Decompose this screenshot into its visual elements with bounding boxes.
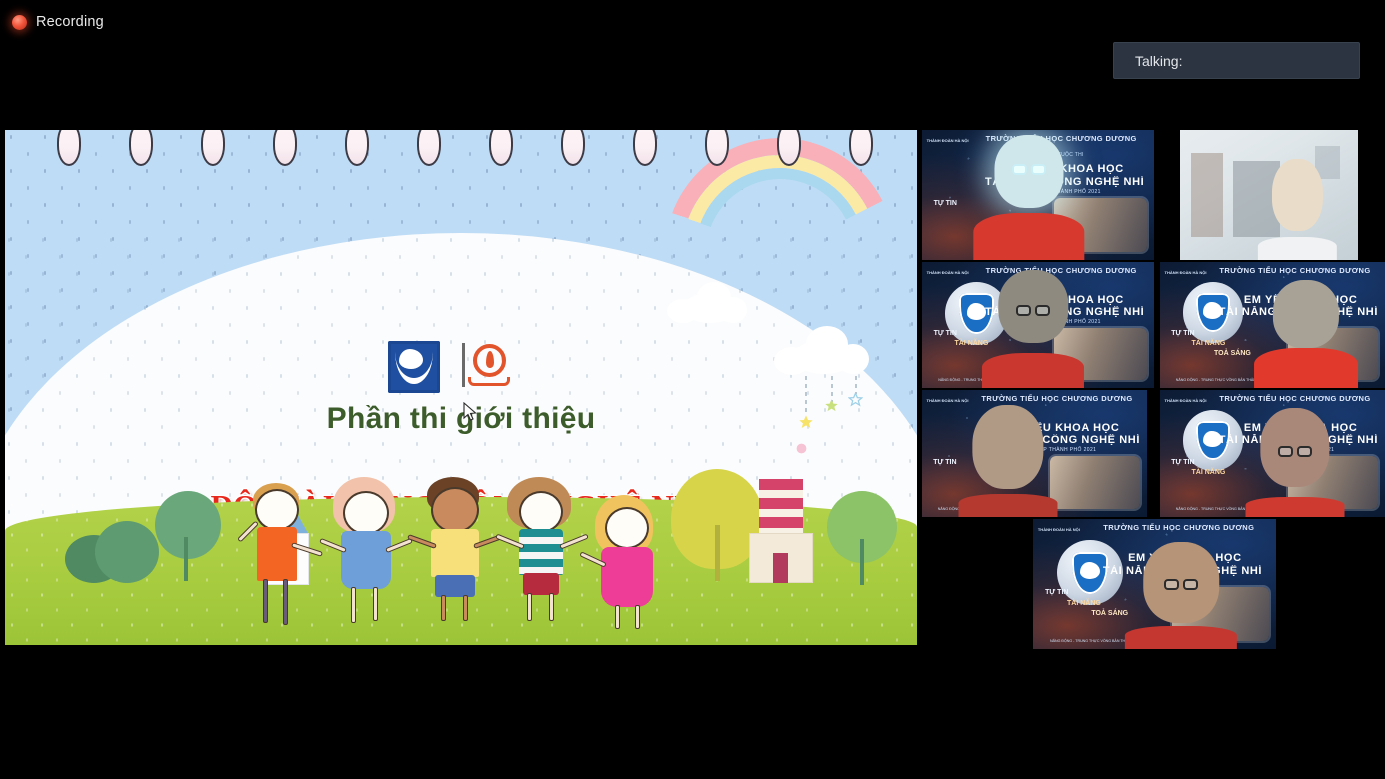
child-2-blue-dress (323, 477, 411, 629)
vbg-corner-badge: THÀNH ĐOÀN HÀ NỘI (927, 138, 969, 143)
talking-indicator-box: Talking: (1113, 42, 1360, 79)
child-3-yellow-shirt (413, 477, 497, 629)
vbg-motto2: TÀI NĂNG (1192, 340, 1226, 347)
video-tile-participant-2[interactable] (1180, 130, 1358, 260)
vbg-motto3: TOẢ SÁNG (1091, 610, 1128, 617)
vbg-motto1: TỰ TIN (1171, 459, 1194, 466)
vbg-motto1: TỰ TIN (1171, 330, 1194, 337)
recording-indicator: Recording (12, 11, 104, 33)
vbg-corner-badge: THÀNH ĐOÀN HÀ NỘI (1165, 270, 1207, 275)
house-striped-right (747, 479, 817, 589)
participant-5-video (958, 390, 1057, 517)
video-tile-participant-4[interactable]: THÀNH ĐOÀN HÀ NỘI TRƯỜNG TIỂU HỌC CHƯƠNG… (1160, 262, 1385, 388)
participant-3-video (982, 262, 1084, 388)
participant-6-video (1246, 390, 1345, 517)
vbg-corner-badge: THÀNH ĐOÀN HÀ NỘI (1165, 398, 1207, 403)
video-tile-participant-6[interactable]: THÀNH ĐOÀN HÀ NỘI TRƯỜNG TIỂU HỌC CHƯƠNG… (1160, 390, 1385, 517)
child-4-striped (499, 477, 583, 629)
tree-bush-dark (65, 511, 161, 589)
participant-4-video (1259, 262, 1354, 388)
vbg-motto1: TỰ TIN (934, 330, 957, 337)
room-object-1 (1191, 153, 1223, 236)
participant-1-video (973, 130, 1084, 260)
tree-round-right (825, 491, 899, 587)
slide-logos (388, 341, 510, 393)
participant-2-video (1258, 130, 1336, 260)
vbg-motto2: TÀI NĂNG (1192, 469, 1226, 476)
vbg-motto2: TÀI NĂNG (1067, 600, 1101, 607)
vbg-corner-badge: THÀNH ĐOÀN HÀ NỘI (1038, 527, 1080, 532)
recording-label: Recording (36, 14, 104, 30)
shared-screen-slide[interactable]: Phần thi giới thiệu ĐỘI TÀI NĂNG CÔNG NG… (5, 130, 917, 645)
video-tile-participant-5[interactable]: THÀNH ĐOÀN HÀ NỘI TRƯỜNG TIỂU HỌC CHƯƠNG… (922, 390, 1147, 517)
participant-7-video (1130, 519, 1232, 649)
star-pink-icon (795, 442, 811, 458)
talking-label: Talking: (1135, 53, 1182, 69)
cloud-left-icon (683, 293, 737, 323)
video-tile-participant-1[interactable]: THÀNH ĐOÀN HÀ NỘI TRƯỜNG TIỂU HỌC CHƯƠNG… (922, 130, 1154, 260)
vbg-motto1: TỰ TIN (934, 200, 957, 207)
child-5-pink-dress (585, 489, 671, 629)
unicef-dove-logo-icon (388, 341, 440, 393)
vbg-photo (1050, 456, 1140, 509)
slide-subheading: Phần thi giới thiệu (5, 402, 917, 436)
doi-tnpt-torch-logo-icon (462, 341, 510, 391)
vbg-motto1: TỰ TIN (933, 459, 956, 466)
tree-round-green (151, 491, 223, 583)
video-tile-participant-3[interactable]: THÀNH ĐOÀN HÀ NỘI TRƯỜNG TIỂU HỌC CHƯƠNG… (922, 262, 1154, 388)
vbg-motto1: TỰ TIN (1045, 589, 1068, 596)
cloud-right-icon (793, 340, 855, 374)
video-tile-participant-7[interactable]: THÀNH ĐOÀN HÀ NỘI TRƯỜNG TIỂU HỌC CHƯƠNG… (1033, 519, 1276, 649)
vbg-corner-badge: THÀNH ĐOÀN HÀ NỘI (927, 270, 969, 275)
record-dot-icon (12, 15, 27, 30)
mouse-pointer-icon (463, 402, 477, 422)
vbg-motto3: TOẢ SÁNG (1214, 350, 1251, 357)
spiral-binding (5, 130, 917, 176)
child-1-orange (237, 479, 317, 629)
